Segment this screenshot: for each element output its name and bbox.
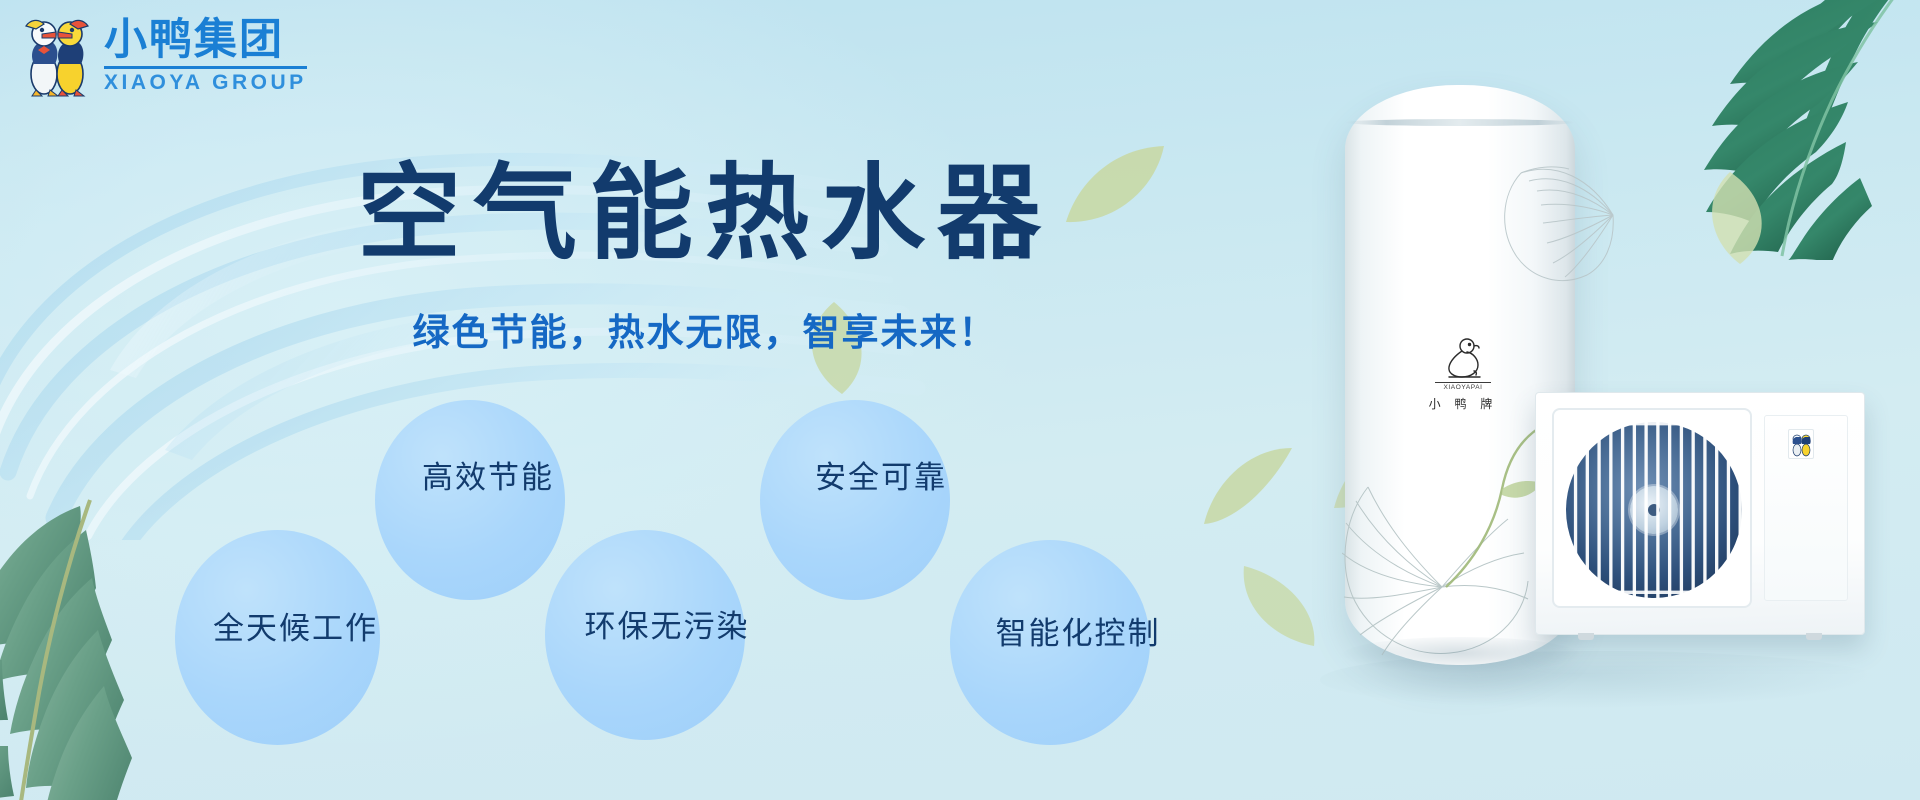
feature-bubble-efficient: 高效节能 xyxy=(375,400,565,600)
page-title: 空气能热水器 xyxy=(290,158,1120,268)
outdoor-unit-foot xyxy=(1806,633,1822,640)
water-tank-seam xyxy=(1345,119,1575,126)
feature-bubble-allweather: 全天候工作 xyxy=(175,530,380,745)
sage-leaf-icon xyxy=(1236,560,1320,650)
feature-bubble-eco: 环保无污染 xyxy=(545,530,745,740)
feature-bubble-smart: 智能化控制 xyxy=(950,540,1150,745)
headline-block: 空气能热水器 绿色节能，热水无限，智享未来！ xyxy=(290,158,1120,356)
duck-outline-icon xyxy=(1440,335,1486,381)
xiaoya-duck-mascots-icon xyxy=(1788,429,1814,459)
brand-name-en: XIAOYA GROUP xyxy=(104,72,307,93)
brand-logo: 小鸭集团 XIAOYA GROUP xyxy=(18,12,307,98)
tank-brand-cn: 小 鸭 牌 xyxy=(1429,395,1498,412)
outdoor-unit xyxy=(1535,392,1865,635)
feature-bubble-safe: 安全可靠 xyxy=(760,400,950,600)
sage-leaf-icon xyxy=(1200,440,1296,528)
feature-bubble-label: 全天候工作 xyxy=(213,603,378,648)
tank-brand-logo: XIAOYAPAI 小 鸭 牌 xyxy=(1415,335,1511,412)
feature-bubble-label: 高效节能 xyxy=(422,452,554,497)
brand-logo-text: 小鸭集团 XIAOYA GROUP xyxy=(104,17,307,93)
fan-grille-icon xyxy=(1552,408,1752,608)
brand-name-cn: 小鸭集团 xyxy=(104,17,307,63)
feature-bubble-label: 安全可靠 xyxy=(815,452,947,497)
xiaoya-duck-mascots-icon xyxy=(18,12,94,98)
grille-bars xyxy=(1554,410,1750,606)
feature-bubble-label: 智能化控制 xyxy=(996,608,1161,653)
duck-badge-glyph xyxy=(1790,431,1812,457)
outdoor-unit-foot xyxy=(1578,633,1594,640)
tank-brand-pinyin: XIAOYAPAI xyxy=(1435,382,1491,391)
promo-banner: 小鸭集团 XIAOYA GROUP 空气能热水器 绿色节能，热水无限，智享未来！… xyxy=(0,0,1920,800)
product-image: XIAOYAPAI 小 鸭 牌 xyxy=(1320,85,1920,725)
water-tank-base-shadow xyxy=(1342,637,1580,673)
feature-bubble-label: 环保无污染 xyxy=(585,601,750,646)
page-subtitle: 绿色节能，热水无限，智享未来！ xyxy=(290,302,1120,356)
brand-logo-rule xyxy=(104,66,307,69)
